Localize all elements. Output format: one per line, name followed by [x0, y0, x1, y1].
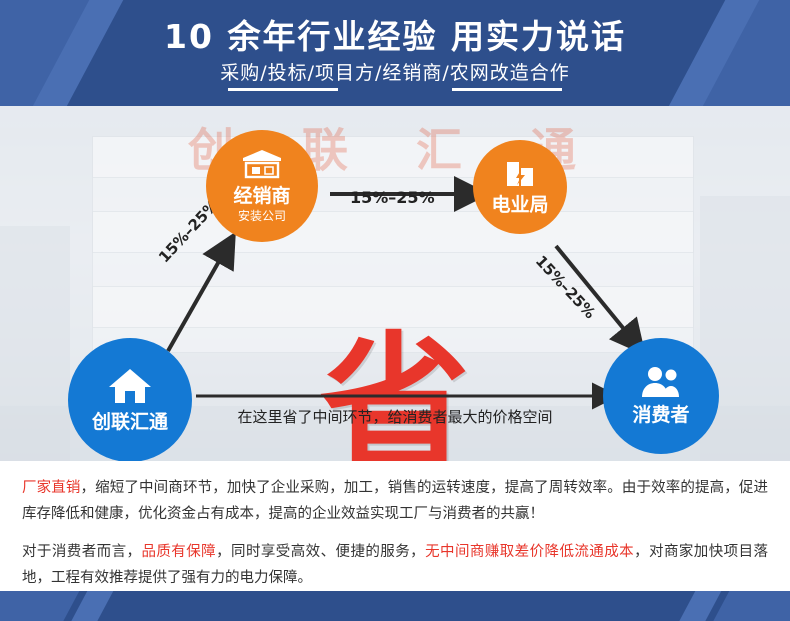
paragraph-2: 对于消费者而言，品质有保障，同时享受高效、便捷的服务，无中间商赚取差价降低流通成…	[22, 539, 768, 591]
node-consumer[interactable]: 消费者	[603, 338, 719, 454]
node-consumer-label: 消费者	[632, 404, 689, 426]
diagram-bottom-caption: 在这里省了中间环节，给消费者最大的价格空间	[200, 406, 590, 427]
header-subtitle: 采购/投标/项目方/经销商/农网改造合作	[0, 58, 790, 85]
paragraph-1-highlight: 厂家直销	[22, 480, 81, 496]
paragraph-1: 厂家直销，缩短了中间商环节，加快了企业采购，加工，销售的运转速度，提高了周转效率…	[22, 475, 768, 527]
body-text-block: 厂家直销，缩短了中间商环节，加快了企业采购，加工，销售的运转速度，提高了周转效率…	[0, 461, 790, 591]
node-dealer-sublabel: 安装公司	[238, 208, 286, 224]
page-root: 10 余年行业经验 用实力说话 采购/投标/项目方/经销商/农网改造合作 创 联…	[0, 0, 790, 621]
people-icon	[638, 366, 684, 402]
node-dealer[interactable]: 经销商 安装公司	[206, 130, 318, 242]
node-company-label: 创联汇通	[92, 411, 168, 433]
arrow-company-to-dealer	[168, 256, 222, 351]
arrow-label-top: 15%–25%	[350, 188, 435, 207]
header-title: 10 余年行业经验 用实力说话	[0, 10, 790, 58]
home-icon	[107, 367, 153, 409]
node-dealer-label: 经销商	[233, 185, 290, 207]
node-power-bureau-label: 电业局	[491, 194, 548, 216]
page-footer	[0, 591, 790, 621]
header-underline-left	[228, 88, 338, 91]
paragraph-2-highlight-1: 品质有保障	[141, 544, 216, 560]
header-underline-right	[452, 88, 562, 91]
building-icon	[503, 158, 537, 192]
node-company[interactable]: 创联汇通	[68, 338, 192, 461]
paragraph-1-rest: ，缩短了中间商环节，加快了企业采购，加工，销售的运转速度，提高了周转效率。由于效…	[22, 480, 768, 522]
page-header: 10 余年行业经验 用实力说话 采购/投标/项目方/经销商/农网改造合作	[0, 0, 790, 106]
diagram-area: 创 联 汇 通 省 15%–25% 15%–25% 15%–25% 在这里省了中…	[0, 106, 790, 461]
paragraph-2-highlight-2: 无中间商赚取差价降低流通成本	[425, 544, 634, 560]
footer-stripe-left-1	[0, 591, 85, 621]
shop-icon	[239, 149, 285, 183]
paragraph-2-part-a: 对于消费者而言，	[22, 544, 141, 560]
node-power-bureau[interactable]: 电业局	[473, 140, 567, 234]
paragraph-2-part-b: ，同时享受高效、便捷的服务，	[216, 544, 425, 560]
